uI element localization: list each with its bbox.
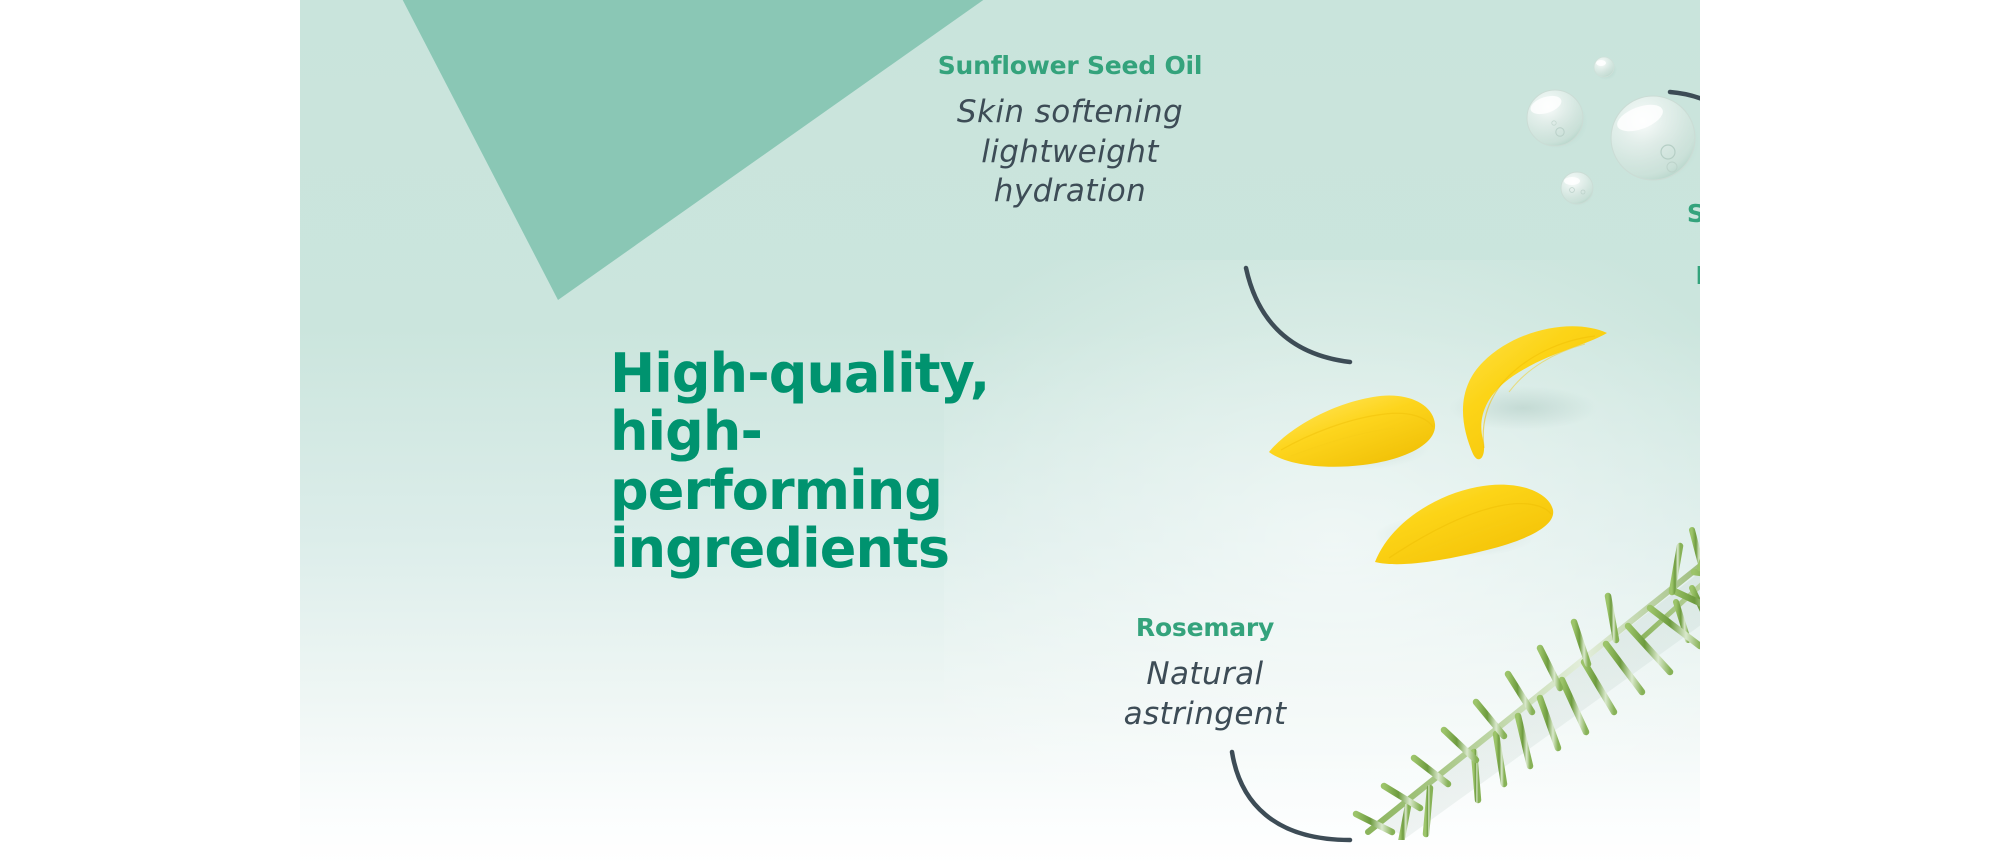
callout-sunflower-seed-oil: Sunflower Seed Oil Skin softening lightw… bbox=[920, 50, 1220, 212]
callout-acids-title: Salicylic, Lactic, Glycolic, and Mandeli… bbox=[1668, 198, 1700, 291]
callout-rosemary-description: Natural astringent bbox=[1080, 655, 1330, 734]
callout-sunflower-title: Sunflower Seed Oil bbox=[920, 50, 1220, 81]
rosemary-sprig-upper bbox=[1640, 440, 1700, 640]
callout-sunflower-description: Skin softening lightweight hydration bbox=[920, 93, 1220, 212]
petal-bottom bbox=[1375, 485, 1553, 565]
acids-connector-curve bbox=[1660, 70, 1700, 200]
droplet-small-bottom bbox=[1561, 172, 1593, 204]
water-droplets-image bbox=[1480, 20, 1700, 220]
droplet-small-top bbox=[1594, 57, 1614, 77]
sunflower-petals-image bbox=[1255, 300, 1635, 570]
rosemary-sprig-lower bbox=[1356, 502, 1700, 840]
droplet-large-right bbox=[1611, 96, 1695, 180]
page-title: High-quality, high-performing ingredient… bbox=[610, 345, 1080, 578]
callout-acids: Salicylic, Lactic, Glycolic, and Mandeli… bbox=[1668, 198, 1700, 382]
rosemary-connector-curve bbox=[1220, 740, 1380, 860]
petal-upper-right bbox=[1463, 326, 1607, 459]
callout-acids-description: Refine and rejuvenate bbox=[1668, 303, 1700, 382]
callout-rosemary: Rosemary Natural astringent bbox=[1080, 612, 1330, 734]
callout-rosemary-title: Rosemary bbox=[1080, 612, 1330, 643]
sunflower-connector-curve bbox=[1230, 258, 1370, 378]
mint-panel: High-quality, high-performing ingredient… bbox=[300, 0, 1700, 866]
rosemary-sprigs-image bbox=[1340, 440, 1700, 840]
droplet-medium-left bbox=[1527, 90, 1583, 146]
petal-left bbox=[1269, 396, 1435, 467]
infographic-canvas: High-quality, high-performing ingredient… bbox=[0, 0, 2000, 866]
